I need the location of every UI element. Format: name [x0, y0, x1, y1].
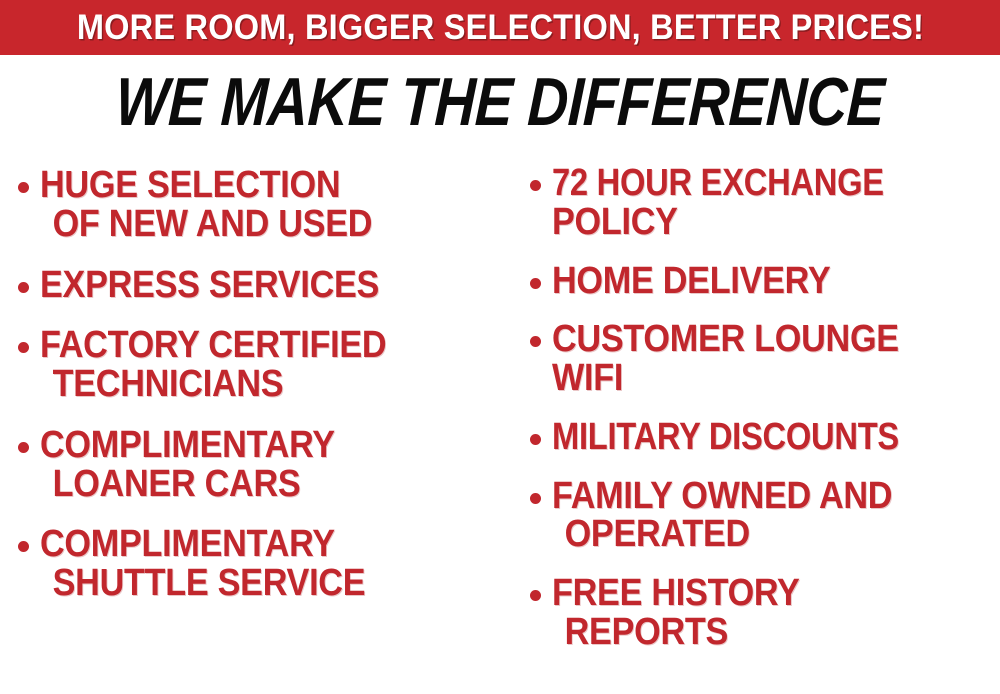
bullet-dot-icon	[530, 180, 541, 191]
bullet-dot-icon	[530, 590, 541, 601]
bullet-dot-icon	[530, 493, 541, 504]
features-column-right: 72 HOUR EXCHANGE POLICY HOME DELIVERY CU…	[510, 150, 1000, 672]
list-item-text: COMPLIMENTARY LOANER CARS	[40, 426, 510, 504]
list-item-text: COMPLIMENTARY SHUTTLE SERVICE	[40, 525, 510, 603]
headline-container: WE MAKE THE DIFFERENCE	[0, 66, 1000, 138]
top-banner: MORE ROOM, BIGGER SELECTION, BETTER PRIC…	[0, 0, 1000, 55]
list-item-line: MILITARY DISCOUNTS	[552, 418, 937, 457]
list-item: EXPRESS SERVICES	[18, 266, 510, 305]
list-item-line: EXPRESS SERVICES	[40, 266, 463, 305]
list-item: CUSTOMER LOUNGE WIFI	[530, 320, 1000, 398]
page-title: WE MAKE THE DIFFERENCE	[114, 68, 885, 136]
list-item-text: FREE HISTORY REPORTS	[552, 574, 1000, 652]
list-item-line: SHUTTLE SERVICE	[40, 564, 463, 603]
list-item: COMPLIMENTARY SHUTTLE SERVICE	[18, 525, 510, 603]
list-item-line: POLICY	[552, 203, 955, 242]
list-item-text: FAMILY OWNED AND OPERATED	[552, 477, 1000, 555]
list-item: FAMILY OWNED AND OPERATED	[530, 477, 1000, 555]
list-item-line: FAMILY OWNED AND	[552, 477, 955, 516]
list-item-line: HUGE SELECTION	[40, 166, 463, 205]
list-item-text: CUSTOMER LOUNGE WIFI	[552, 320, 1000, 398]
list-item-line: TECHNICIANS	[40, 365, 463, 404]
list-item-text: MILITARY DISCOUNTS	[552, 418, 1000, 457]
list-item-text: 72 HOUR EXCHANGE POLICY	[552, 164, 1000, 242]
list-item: HUGE SELECTION OF NEW AND USED	[18, 166, 510, 244]
list-item: FREE HISTORY REPORTS	[530, 574, 1000, 652]
bullet-dot-icon	[18, 182, 29, 193]
list-item-line: OPERATED	[552, 515, 955, 554]
bullet-dot-icon	[18, 541, 29, 552]
list-item: COMPLIMENTARY LOANER CARS	[18, 426, 510, 504]
list-item-text: HUGE SELECTION OF NEW AND USED	[40, 166, 510, 244]
list-item-line: LOANER CARS	[40, 465, 463, 504]
list-item: HOME DELIVERY	[530, 262, 1000, 301]
list-item-line: 72 HOUR EXCHANGE	[552, 164, 937, 203]
list-item-text: HOME DELIVERY	[552, 262, 1000, 301]
list-item: 72 HOUR EXCHANGE POLICY	[530, 164, 1000, 242]
list-item-line: HOME DELIVERY	[552, 262, 955, 301]
features-column-left: HUGE SELECTION OF NEW AND USED EXPRESS S…	[0, 150, 510, 625]
list-item-line: FACTORY CERTIFIED	[40, 326, 463, 365]
list-item: FACTORY CERTIFIED TECHNICIANS	[18, 326, 510, 404]
list-item-line: FREE HISTORY	[552, 574, 955, 613]
banner-headline-text: MORE ROOM, BIGGER SELECTION, BETTER PRIC…	[76, 10, 923, 45]
promo-poster: MORE ROOM, BIGGER SELECTION, BETTER PRIC…	[0, 0, 1000, 694]
list-item-line: WIFI	[552, 359, 955, 398]
bullet-dot-icon	[530, 336, 541, 347]
bullet-dot-icon	[18, 442, 29, 453]
list-item-line: COMPLIMENTARY	[40, 525, 463, 564]
list-item-text: EXPRESS SERVICES	[40, 266, 510, 305]
bullet-dot-icon	[18, 282, 29, 293]
bullet-dot-icon	[530, 278, 541, 289]
features-columns: HUGE SELECTION OF NEW AND USED EXPRESS S…	[0, 150, 1000, 694]
bullet-dot-icon	[530, 434, 541, 445]
list-item-line: CUSTOMER LOUNGE	[552, 320, 955, 359]
list-item-text: FACTORY CERTIFIED TECHNICIANS	[40, 326, 510, 404]
bullet-dot-icon	[18, 342, 29, 353]
list-item-line: COMPLIMENTARY	[40, 426, 463, 465]
list-item: MILITARY DISCOUNTS	[530, 418, 1000, 457]
list-item-line: OF NEW AND USED	[40, 205, 463, 244]
list-item-line: REPORTS	[552, 613, 955, 652]
